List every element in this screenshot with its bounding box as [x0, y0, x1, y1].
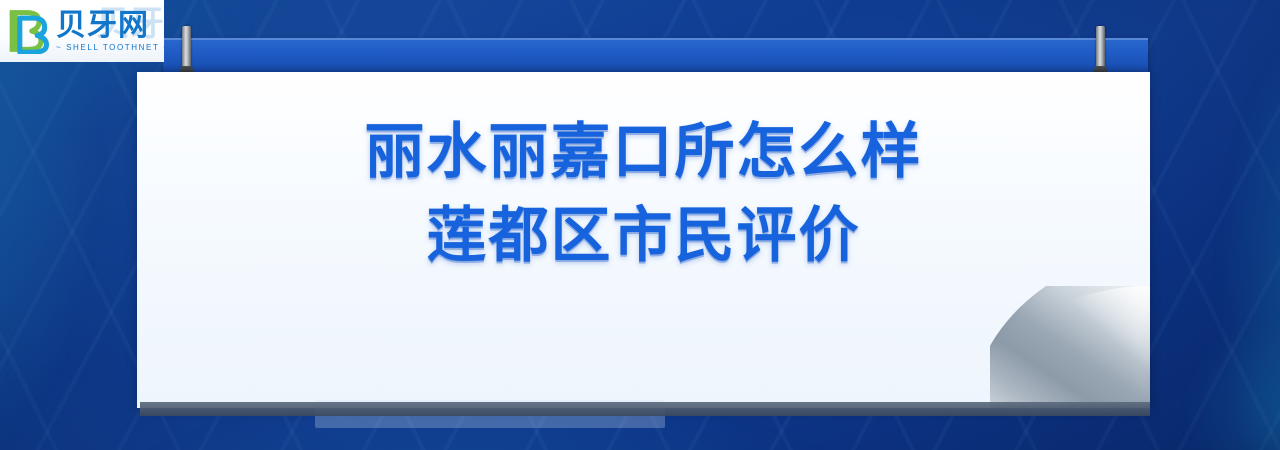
top-clip-bar [163, 38, 1148, 73]
logo-b-monogram-icon [6, 8, 52, 54]
pin-shaft [182, 26, 191, 72]
poster-stage: 丽水丽嘉口所怎么样 莲都区市民评价 贝牙网 贝牙网 ~ SHELL TOOTHN… [0, 0, 1280, 450]
logo-brand-en: ~ SHELL TOOTHNET ~ [56, 44, 164, 52]
logo-brand-cn: 贝牙网 [56, 11, 164, 41]
site-logo[interactable]: 贝牙网 贝牙网 ~ SHELL TOOTHNET ~ [0, 0, 164, 62]
page-curl-corner-icon [990, 286, 1150, 408]
title-line-1: 丽水丽嘉口所怎么样 [137, 110, 1150, 194]
logo-text-block: 贝牙网 贝牙网 ~ SHELL TOOTHNET ~ [56, 11, 164, 52]
page-title: 丽水丽嘉口所怎么样 莲都区市民评价 [137, 110, 1150, 278]
title-line-2: 莲都区市民评价 [137, 194, 1150, 278]
curl-fold-highlight [990, 286, 1150, 398]
paper-card-bottom-shadow [140, 402, 1150, 416]
pin-shaft [1096, 26, 1105, 72]
